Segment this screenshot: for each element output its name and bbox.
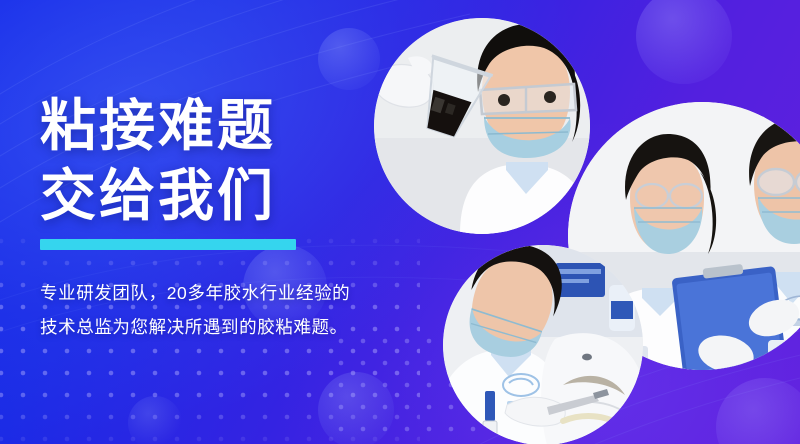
subtitle-block: 专业研发团队，20多年胶水行业经验的 技术总监为您解决所遇到的胶粘难题。 <box>40 276 460 344</box>
bubble-decor-6 <box>128 396 182 444</box>
headline-line-1: 粘接难题 <box>40 94 276 157</box>
headline-line-2: 交给我们 <box>40 166 460 226</box>
subtitle-line-1: 专业研发团队，20多年胶水行业经验的 <box>40 276 460 310</box>
page-title: 粘接难题 交给我们 <box>40 96 460 227</box>
headline-underline-accent <box>40 239 296 250</box>
technician-applying-adhesive-illustration <box>443 245 643 444</box>
subtitle-line-2: 技术总监为您解决所遇到的胶粘难题。 <box>40 310 460 344</box>
photo-technician-applying-adhesive <box>443 245 643 444</box>
bubble-decor-1 <box>318 28 380 90</box>
bubble-decor-4 <box>318 372 394 444</box>
promo-banner: 粘接难题 交给我们 专业研发团队，20多年胶水行业经验的 技术总监为您解决所遇到… <box>0 0 800 444</box>
bubble-decor-5 <box>716 378 800 444</box>
bubble-decor-2 <box>636 0 732 84</box>
headline-block: 粘接难题 交给我们 <box>40 96 460 227</box>
